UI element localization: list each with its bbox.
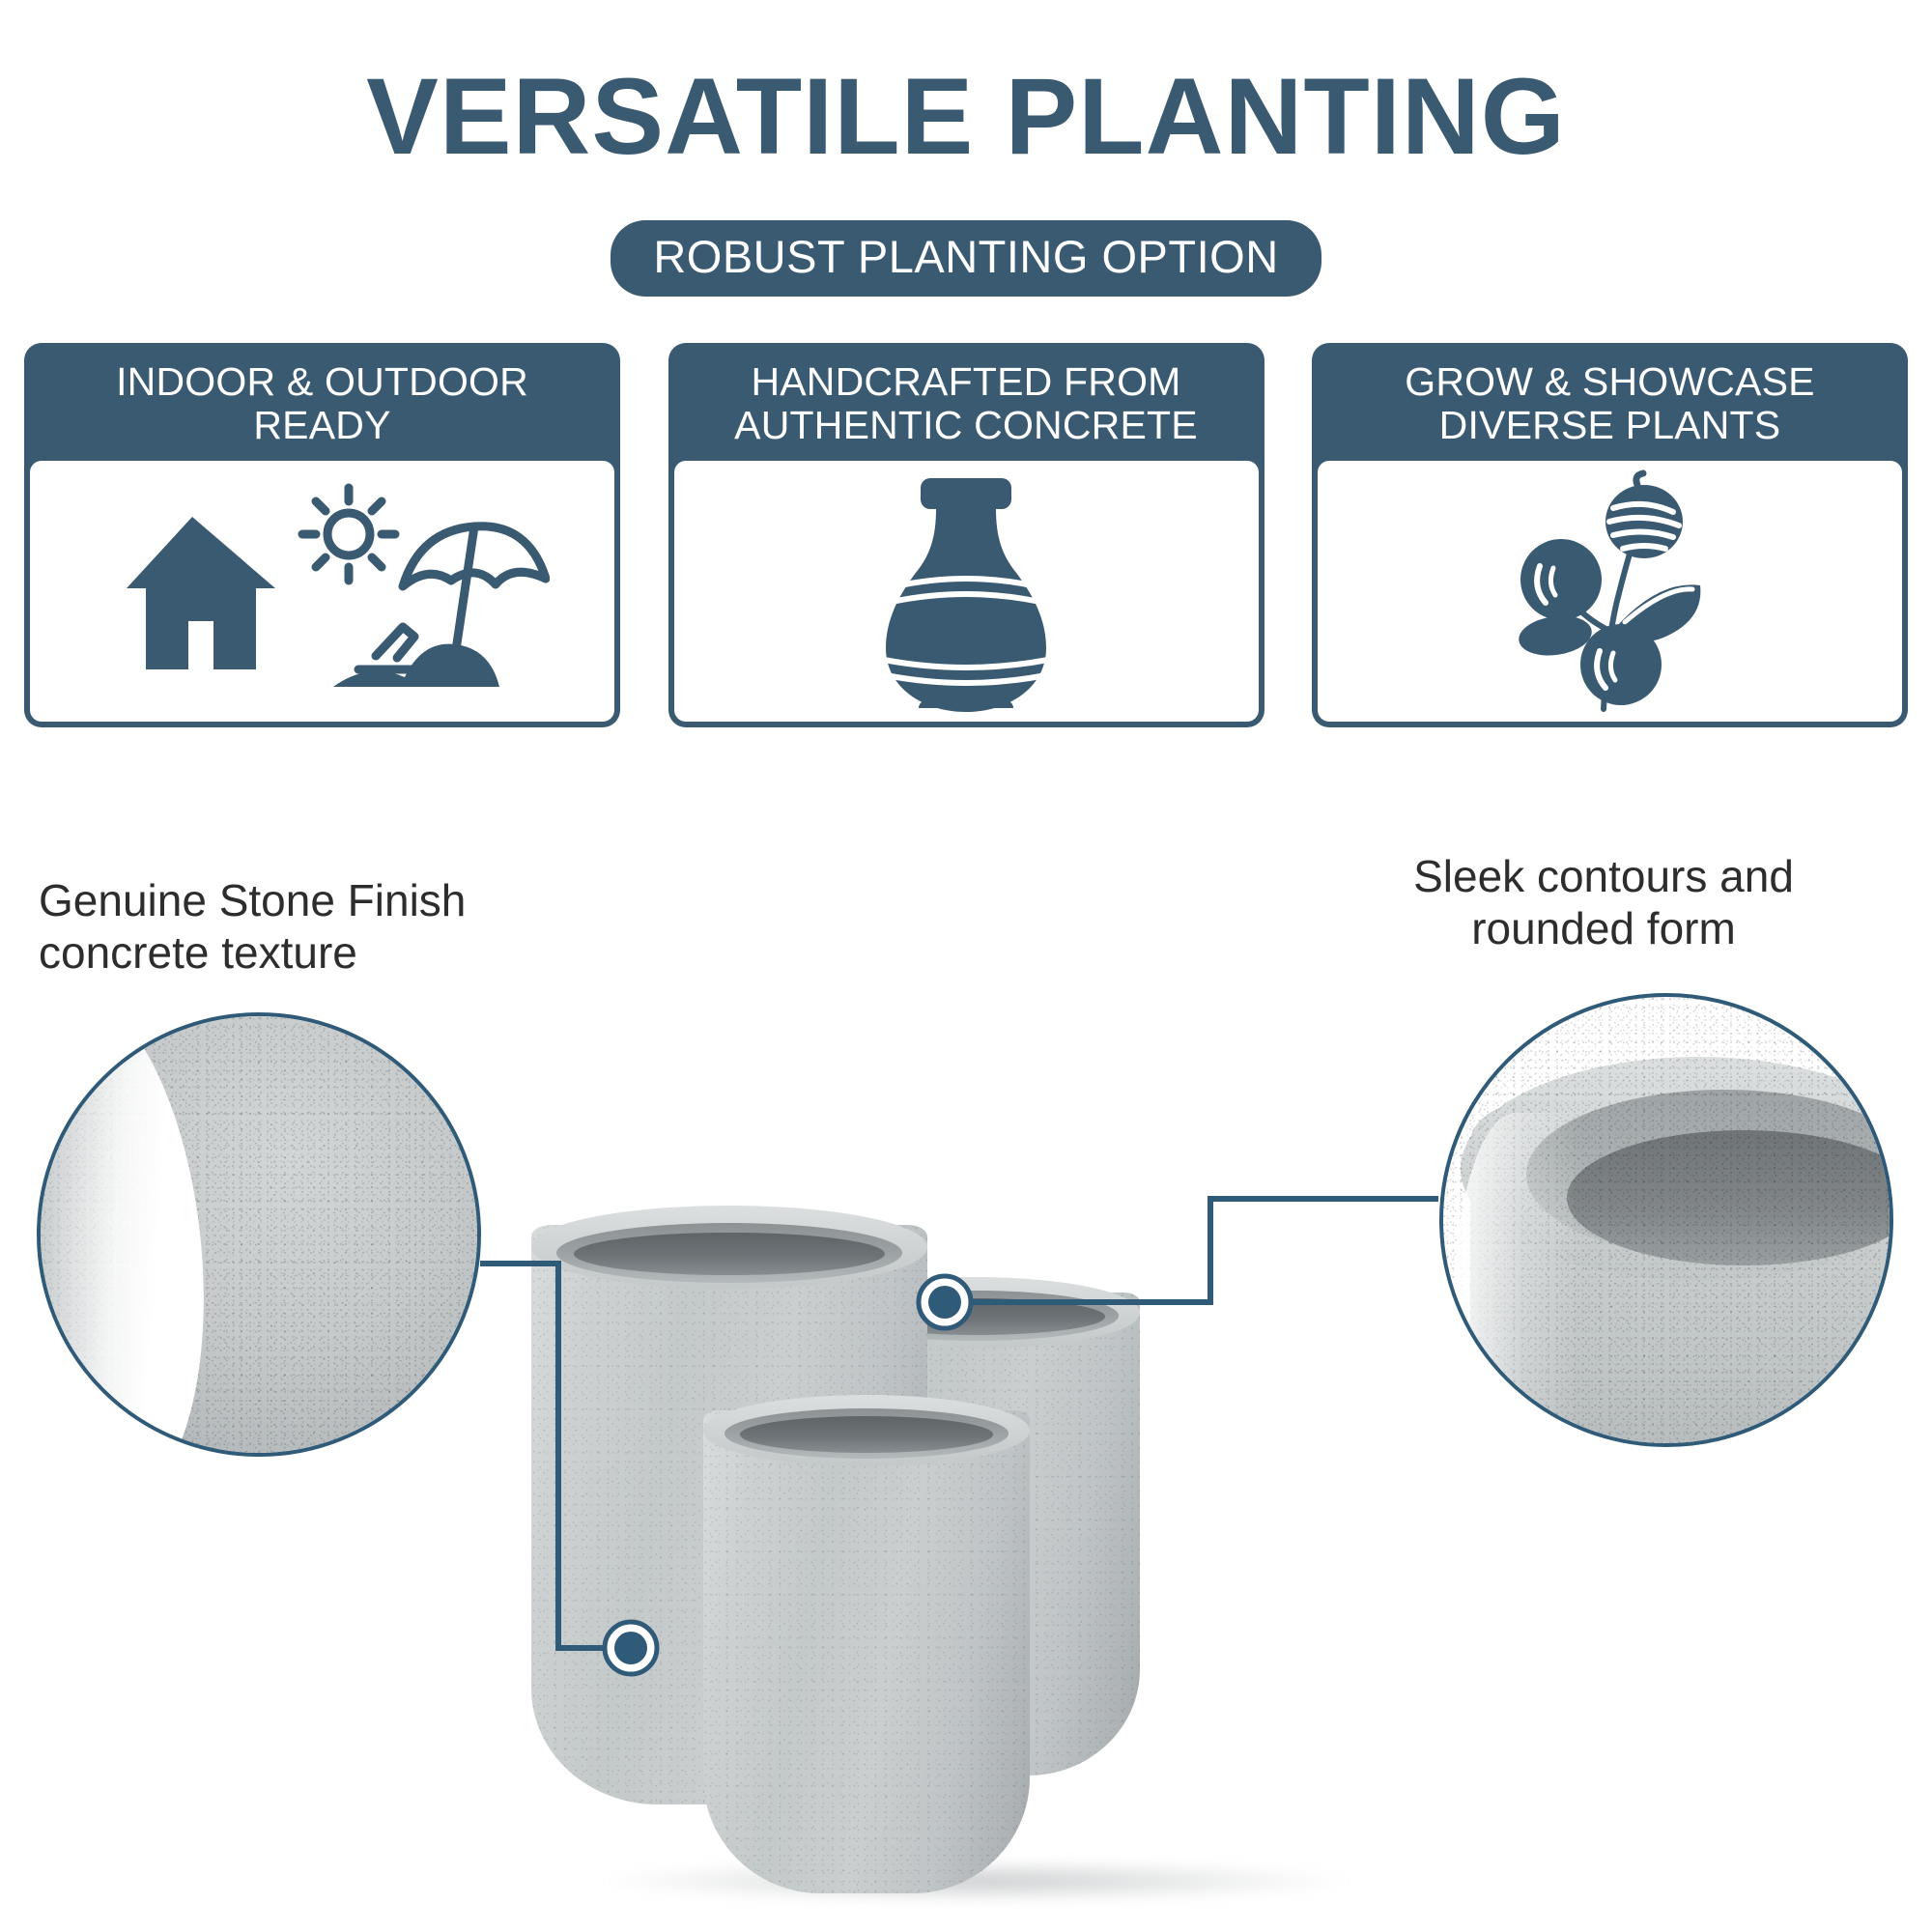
indoor-outdoor-icon-group [96, 480, 550, 702]
feature-card-icon-area [30, 461, 614, 722]
detail-circle-concrete-texture [37, 1012, 481, 1457]
beach-umbrella-icon [403, 526, 546, 669]
callout-right-line2: rounded form [1304, 902, 1903, 954]
product-planter-set [522, 1207, 1430, 1932]
feature-card-title: GROW & SHOWCASE DIVERSE PLANTS [1318, 349, 1902, 461]
subtitle-badge: ROBUST PLANTING OPTION [611, 220, 1321, 297]
vase-icon [855, 470, 1077, 712]
badge-row: ROBUST PLANTING OPTION [0, 220, 1932, 297]
feature-card-title: HANDCRAFTED FROM AUTHENTIC CONCRETE [674, 349, 1259, 461]
pot-rim-image [1443, 997, 1889, 1443]
feature-card-diverse-plants: GROW & SHOWCASE DIVERSE PLANTS [1312, 343, 1908, 727]
page-title: VERSATILE PLANTING [0, 60, 1932, 174]
callout-right-line1: Sleek contours and [1304, 850, 1903, 902]
left-berry [1520, 539, 1602, 620]
feature-card-icon-area [674, 461, 1259, 722]
feature-card-icon-area [1318, 461, 1902, 722]
callout-left-line2: concrete texture [39, 926, 618, 979]
feature-card-title: INDOOR & OUTDOOR READY [30, 349, 614, 461]
striped-berry [1605, 473, 1683, 558]
planter-small [703, 1410, 1030, 1893]
callout-label-left: Genuine Stone Finish concrete texture [39, 874, 618, 980]
concrete-texture-image [41, 1016, 477, 1453]
lower-berry [1580, 624, 1662, 705]
infographic-canvas: VERSATILE PLANTING ROBUST PLANTING OPTIO… [0, 0, 1932, 1932]
feature-card-authentic-concrete: HANDCRAFTED FROM AUTHENTIC CONCRETE [668, 343, 1264, 727]
callout-left-line1: Genuine Stone Finish [39, 874, 618, 926]
berry-branch-icon [1490, 466, 1731, 717]
feature-card-indoor-outdoor: INDOOR & OUTDOOR READY [24, 343, 620, 727]
sun-icon [302, 488, 395, 581]
feature-card-row: INDOOR & OUTDOOR READY [24, 343, 1908, 729]
detail-circle-pot-rim [1439, 993, 1893, 1447]
house-icon [127, 517, 275, 669]
callout-label-right: Sleek contours and rounded form [1304, 850, 1903, 955]
